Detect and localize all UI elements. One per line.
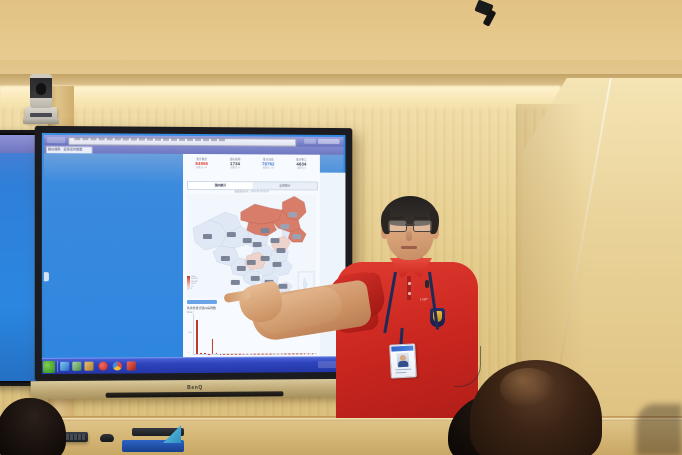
stat-card: 累计死亡 4634 较昨日 0	[285, 158, 318, 180]
chart-bar	[216, 353, 218, 354]
wall-shadow	[516, 104, 586, 404]
badge-text-line	[395, 369, 411, 371]
badge-text-line	[396, 372, 407, 374]
display-screen[interactable]: 疑似病例 · 疫情实时数据 累计确诊 84956 较昨日 +21	[42, 133, 346, 374]
browser-icon[interactable]	[60, 362, 69, 371]
stat-sublabel: 较昨日 +21	[185, 167, 218, 170]
china-choropleth-map[interactable]	[187, 194, 316, 298]
camera-wall-mount	[23, 118, 59, 124]
stat-card: 累计确诊 84956 较昨日 +21	[185, 158, 218, 180]
app-icon[interactable]	[127, 361, 136, 370]
panel-expand-chevron-icon[interactable]	[44, 272, 49, 281]
chart-bar	[196, 320, 198, 354]
data-update-note: 数据更新时间：2022-05-18 16:00	[183, 189, 320, 193]
stat-sublabel: 较昨日 +35	[252, 167, 285, 170]
badge-photo	[397, 353, 410, 368]
audience-edge-blur	[636, 404, 682, 455]
presenter-nose	[406, 231, 412, 241]
explorer-icon[interactable]	[72, 362, 81, 371]
windows-taskbar[interactable]	[42, 356, 346, 374]
glasses-lens	[413, 220, 432, 232]
chart-y-tick: 2000	[188, 312, 192, 314]
benq-logo: BenQ	[187, 385, 203, 391]
chart-bar	[204, 353, 206, 354]
legend-color-scale	[187, 276, 190, 290]
start-button[interactable]	[43, 360, 55, 372]
browser-tab-label: 疑似病例 · 疫情实时数据	[48, 147, 82, 151]
polo-button	[408, 292, 411, 295]
presenter-mouth	[401, 246, 417, 249]
stat-card: 现有病例 1734 较昨日 -8	[218, 158, 251, 180]
chrome-icon[interactable]	[113, 361, 122, 370]
audience-hair-highlight	[500, 368, 556, 408]
chart-bar	[212, 339, 214, 354]
chart-y-tick: 0	[188, 352, 189, 354]
ptz-camera	[25, 74, 57, 122]
mouse	[100, 434, 114, 442]
shirt-script-text: Logo	[420, 297, 428, 302]
room-photo-scene: 疑似病例 · 疫情实时数据 累计确诊 84956 较昨日 +21	[0, 0, 682, 455]
glasses-bridge	[405, 224, 415, 225]
camera-lens-icon	[36, 83, 46, 95]
polo-button	[408, 282, 411, 285]
stat-card: 累计治愈 79762 较昨日 +35	[252, 158, 285, 180]
legend-tick-labels: 1000+ 500-999 100-499 10-99 1-9 0	[191, 276, 198, 290]
eyeglasses-icon	[387, 220, 433, 230]
map-svg	[187, 194, 316, 298]
chart-bar	[219, 353, 221, 354]
camera-indicator-strip	[30, 113, 52, 117]
stat-sublabel: 较昨日 0	[285, 167, 318, 170]
taskbar-separator	[57, 361, 58, 372]
browser-window-controls[interactable]	[318, 139, 340, 144]
media-icon[interactable]	[99, 362, 108, 371]
chart-y-tick: 1000	[188, 332, 192, 334]
clip-microphone-icon	[425, 280, 429, 288]
polo-placket	[407, 276, 411, 300]
desktop-wallpaper: 疑似病例 · 疫情实时数据 累计确诊 84956 较昨日 +21	[42, 133, 346, 374]
chart-bar	[200, 353, 202, 354]
stat-sublabel: 较昨日 -8	[218, 167, 251, 170]
badge-header-bar	[391, 345, 413, 351]
legend-tick: 0	[191, 288, 198, 290]
chart-section-badge	[187, 300, 217, 304]
stat-card-row: 累计确诊 84956 较昨日 +21 现有病例 1734 较昨日 -8	[185, 158, 318, 181]
map-legend: 1000+ 500-999 100-499 10-99 1-9 0	[187, 276, 205, 294]
browser-minimize-icon[interactable]	[304, 139, 316, 144]
id-badge	[389, 343, 417, 378]
browser-nav-buttons[interactable]	[47, 137, 65, 143]
folder-icon[interactable]	[84, 362, 93, 371]
glasses-lens	[388, 220, 407, 232]
cove-light-glow	[0, 86, 560, 112]
badge-body-icon	[398, 361, 408, 368]
